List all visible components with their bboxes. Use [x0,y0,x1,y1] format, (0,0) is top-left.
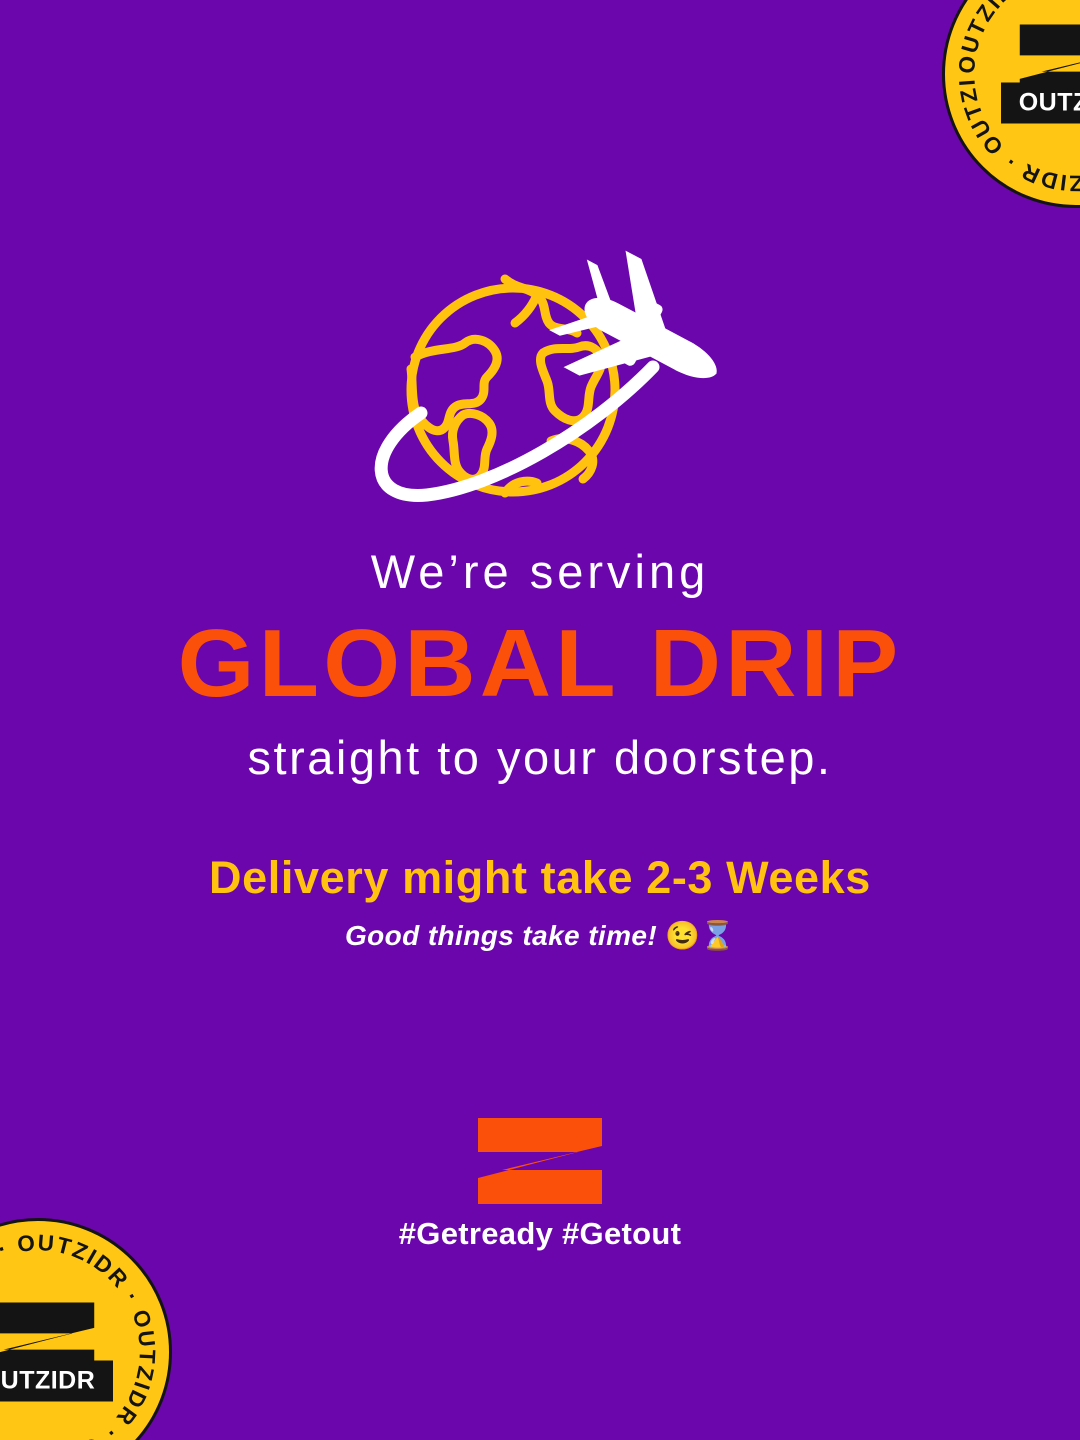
stamp-core-top-right: OUTZIDR [1001,25,1080,124]
copy-block: We’re serving GLOBAL DRIP straight to yo… [0,545,1080,952]
stamp-wordmark-bottom-left: OUTZIDR [0,1361,113,1402]
stamp-wordmark-text-top-right: OUTZIDR [1005,88,1080,118]
stamp-wordmark-top-right: OUTZIDR [1001,83,1080,124]
outzidr-z-logo [478,1118,602,1204]
stamp-wordmark-text-bottom-left: OUTZIDR [0,1366,109,1396]
outzidr-stamp-top-right: OUTZIDR · OUTZIDR · OUTZIDR · OUTZIDR · … [942,0,1080,208]
kicker-line: We’re serving [0,545,1080,599]
stamp-core-bottom-left: OUTZIDR [0,1303,113,1402]
svg-text:OUTZIDR: OUTZIDR [0,1367,95,1395]
svg-text:OUTZIDR: OUTZIDR [1019,89,1080,117]
promo-poster: We’re serving GLOBAL DRIP straight to yo… [0,0,1080,1440]
delivery-note-text: Good things take time! [345,920,657,951]
outzidr-stamp-bottom-left: OUTZIDR · OUTZIDR · OUTZIDR · OUTZIDR · … [0,1218,172,1440]
delivery-estimate: Delivery might take 2-3 Weeks [0,851,1080,905]
wink-and-hourglass-emoji: 😉⌛ [665,920,735,951]
delivery-note: Good things take time! 😉⌛ [0,919,1080,953]
headline: GLOBAL DRIP [0,611,1080,717]
subline: straight to your doorstep. [0,731,1080,785]
globe-with-airplane-illustration [355,265,725,520]
